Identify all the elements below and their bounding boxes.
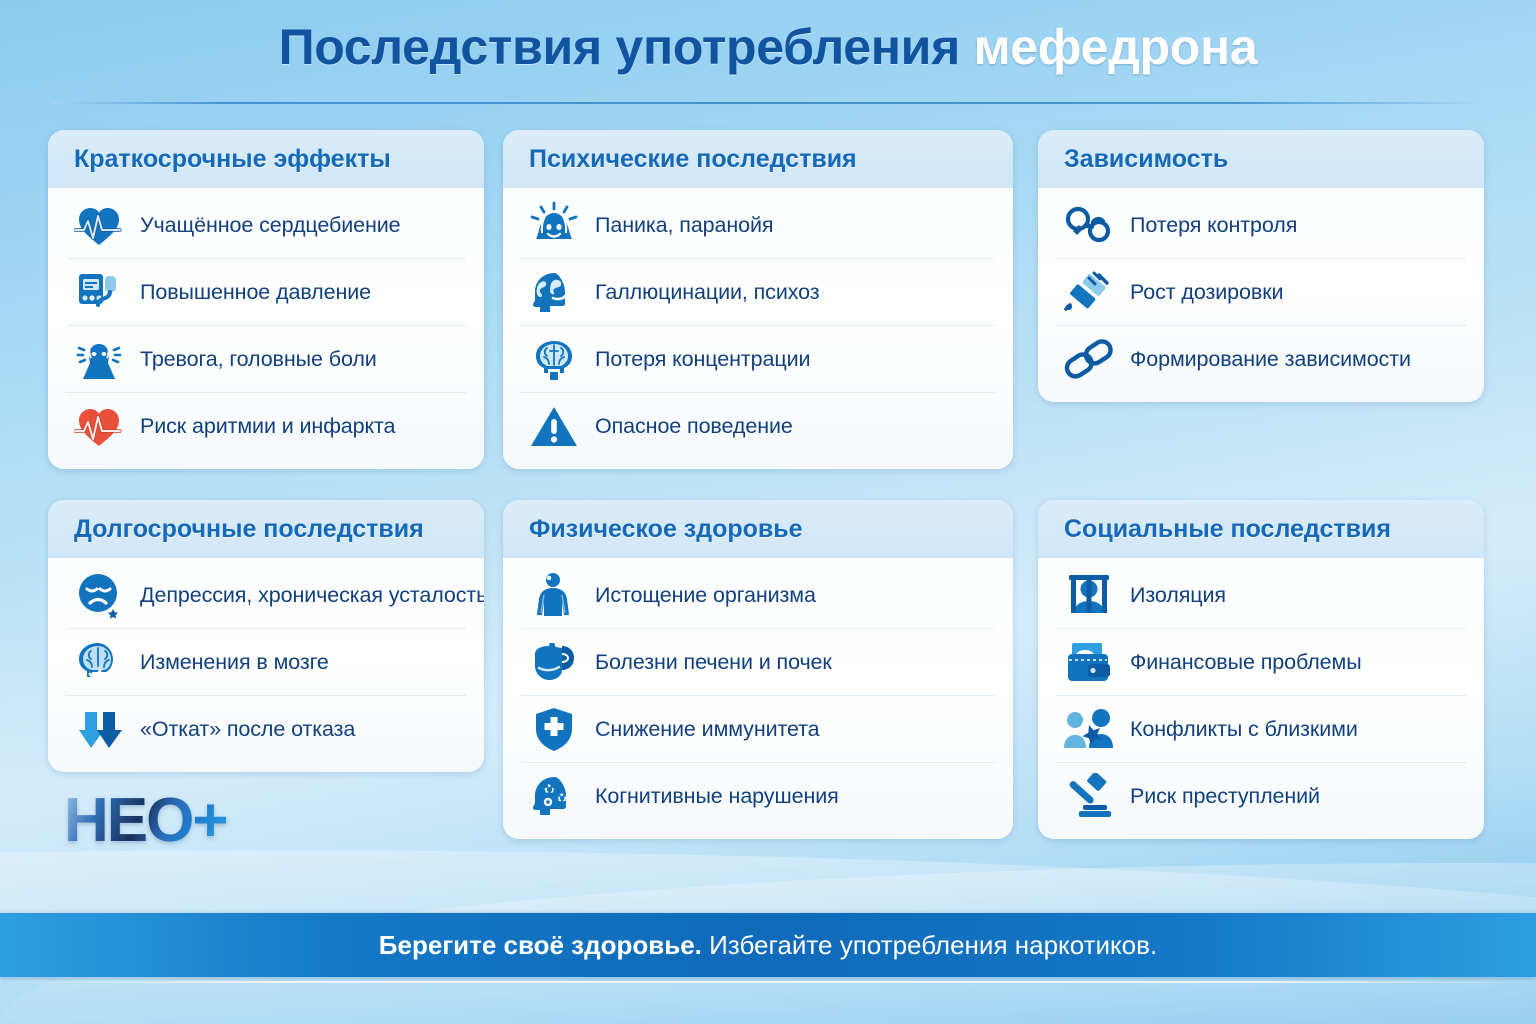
list-item[interactable]: Конфликты с близкими xyxy=(1056,696,1466,763)
footer-message-bold: Берегите своё здоровье. xyxy=(379,930,702,960)
list-item-label: Болезни печени и почек xyxy=(595,650,832,675)
card-addiction: Зависимость Потеря контроля xyxy=(1038,130,1484,402)
card-title-social: Социальные последствия xyxy=(1064,515,1391,544)
handcuffs-icon xyxy=(1062,198,1116,252)
list-item[interactable]: Опасное поведение xyxy=(521,393,995,459)
list-item-label: Изоляция xyxy=(1130,583,1226,608)
footer-banner: Берегите своё здоровье. Избегайте употре… xyxy=(0,913,1536,977)
down-arrows-icon xyxy=(72,702,126,756)
list-item-label: Финансовые проблемы xyxy=(1130,650,1362,675)
list-item[interactable]: Риск аритмии и инфаркта xyxy=(66,393,466,459)
card-header-addiction: Зависимость xyxy=(1038,130,1484,188)
brain-damage-icon xyxy=(72,635,126,689)
list-item-label: Конфликты с близкими xyxy=(1130,717,1358,742)
list-item-label: Потеря концентрации xyxy=(595,347,810,372)
list-item[interactable]: Паника, паранойя xyxy=(521,192,995,259)
list-item[interactable]: Изменения в мозге xyxy=(66,629,466,696)
gavel-icon xyxy=(1062,769,1116,823)
list-item[interactable]: Рост дозировки xyxy=(1056,259,1466,326)
list-item-label: Депрессия, хроническая усталость xyxy=(140,583,484,608)
list-item[interactable]: Депрессия, хроническая усталость xyxy=(66,562,466,629)
prison-bars-icon xyxy=(1062,568,1116,622)
head-gears-icon xyxy=(527,769,581,823)
card-body-mental: Паника, паранойя Галлюцинации, психоз xyxy=(503,188,1013,469)
card-social: Социальные последствия Изоляция xyxy=(1038,500,1484,839)
list-item-label: Паника, паранойя xyxy=(595,213,773,238)
list-item-label: «Откат» после отказа xyxy=(140,717,355,742)
page-header: Последствия употребления мефедрона xyxy=(0,0,1536,104)
list-item[interactable]: Истощение организма xyxy=(521,562,995,629)
card-body-social: Изоляция Финансовые проблемы xyxy=(1038,558,1484,839)
wallet-icon xyxy=(1062,635,1116,689)
list-item[interactable]: Финансовые проблемы xyxy=(1056,629,1466,696)
brand-logo: НЕО+ xyxy=(64,790,227,852)
exhausted-body-icon xyxy=(527,568,581,622)
warning-triangle-icon xyxy=(527,399,581,453)
list-item-label: Изменения в мозге xyxy=(140,650,329,675)
list-item-label: Риск преступлений xyxy=(1130,784,1320,809)
conflict-people-icon xyxy=(1062,702,1116,756)
card-title-short-term: Краткосрочные эффекты xyxy=(74,145,391,174)
shield-cross-icon xyxy=(527,702,581,756)
list-item-label: Опасное поведение xyxy=(595,414,793,439)
list-item[interactable]: Тревога, головные боли xyxy=(66,326,466,393)
list-item[interactable]: Формирование зависимости xyxy=(1056,326,1466,392)
list-item-label: Снижение иммунитета xyxy=(595,717,820,742)
card-title-physical-health: Физическое здоровье xyxy=(529,515,803,544)
page-title-primary: Последствия употребления xyxy=(279,19,974,75)
heart-attack-red-icon xyxy=(72,399,126,453)
page-title-highlight: мефедрона xyxy=(974,19,1258,75)
card-header-short-term: Краткосрочные эффекты xyxy=(48,130,484,188)
list-item[interactable]: Когнитивные нарушения xyxy=(521,763,995,829)
brain-icon xyxy=(527,332,581,386)
list-item[interactable]: Снижение иммунитета xyxy=(521,696,995,763)
list-item-label: Потеря контроля xyxy=(1130,213,1297,238)
card-mental: Психические последствия Паника, паранойя xyxy=(503,130,1013,469)
list-item[interactable]: Потеря концентрации xyxy=(521,326,995,393)
card-physical-health: Физическое здоровье Истощение организма xyxy=(503,500,1013,839)
list-item-label: Риск аритмии и инфаркта xyxy=(140,414,395,439)
hallucination-head-icon xyxy=(527,265,581,319)
header-divider xyxy=(52,102,1484,104)
card-body-long-term: Депрессия, хроническая усталость Изменен… xyxy=(48,558,484,772)
card-body-addiction: Потеря контроля Рост дозировки xyxy=(1038,188,1484,402)
brand-logo-text: НЕО+ xyxy=(64,790,227,852)
list-item-label: Формирование зависимости xyxy=(1130,347,1411,372)
list-item-label: Учащённое сердцебиение xyxy=(140,213,401,238)
list-item[interactable]: Галлюцинации, психоз xyxy=(521,259,995,326)
card-body-short-term: Учащённое сердцебиение Повышенное давлен… xyxy=(48,188,484,469)
page-title: Последствия употребления мефедрона xyxy=(0,22,1536,72)
chain-link-icon xyxy=(1062,332,1116,386)
sad-face-icon xyxy=(72,568,126,622)
list-item[interactable]: Повышенное давление xyxy=(66,259,466,326)
heart-pulse-icon xyxy=(72,198,126,252)
card-body-physical-health: Истощение организма Болезни печени и поч… xyxy=(503,558,1013,839)
list-item[interactable]: Риск преступлений xyxy=(1056,763,1466,829)
list-item-label: Тревога, головные боли xyxy=(140,347,377,372)
card-long-term: Долгосрочные последствия Депрессия, хрон… xyxy=(48,500,484,772)
card-title-addiction: Зависимость xyxy=(1064,145,1228,174)
card-title-mental: Психические последствия xyxy=(529,145,857,174)
list-item-label: Повышенное давление xyxy=(140,280,371,305)
syringe-icon xyxy=(1062,265,1116,319)
blood-pressure-monitor-icon xyxy=(72,265,126,319)
list-item-label: Рост дозировки xyxy=(1130,280,1283,305)
footer-divider xyxy=(0,981,1536,983)
list-item-label: Истощение организма xyxy=(595,583,816,608)
footer-message-normal: Избегайте употребления наркотиков. xyxy=(702,930,1157,960)
card-header-long-term: Долгосрочные последствия xyxy=(48,500,484,558)
headache-person-icon xyxy=(72,332,126,386)
list-item[interactable]: Болезни печени и почек xyxy=(521,629,995,696)
list-item[interactable]: «Откат» после отказа xyxy=(66,696,466,762)
card-header-mental: Психические последствия xyxy=(503,130,1013,188)
list-item-label: Когнитивные нарушения xyxy=(595,784,839,809)
card-header-social: Социальные последствия xyxy=(1038,500,1484,558)
card-title-long-term: Долгосрочные последствия xyxy=(74,515,424,544)
footer-message: Берегите своё здоровье. Избегайте употре… xyxy=(379,930,1157,961)
list-item[interactable]: Изоляция xyxy=(1056,562,1466,629)
card-short-term: Краткосрочные эффекты Учащённое сердцеби… xyxy=(48,130,484,469)
list-item-label: Галлюцинации, психоз xyxy=(595,280,820,305)
card-header-physical-health: Физическое здоровье xyxy=(503,500,1013,558)
panic-face-icon xyxy=(527,198,581,252)
list-item[interactable]: Потеря контроля xyxy=(1056,192,1466,259)
liver-kidney-icon xyxy=(527,635,581,689)
list-item[interactable]: Учащённое сердцебиение xyxy=(66,192,466,259)
